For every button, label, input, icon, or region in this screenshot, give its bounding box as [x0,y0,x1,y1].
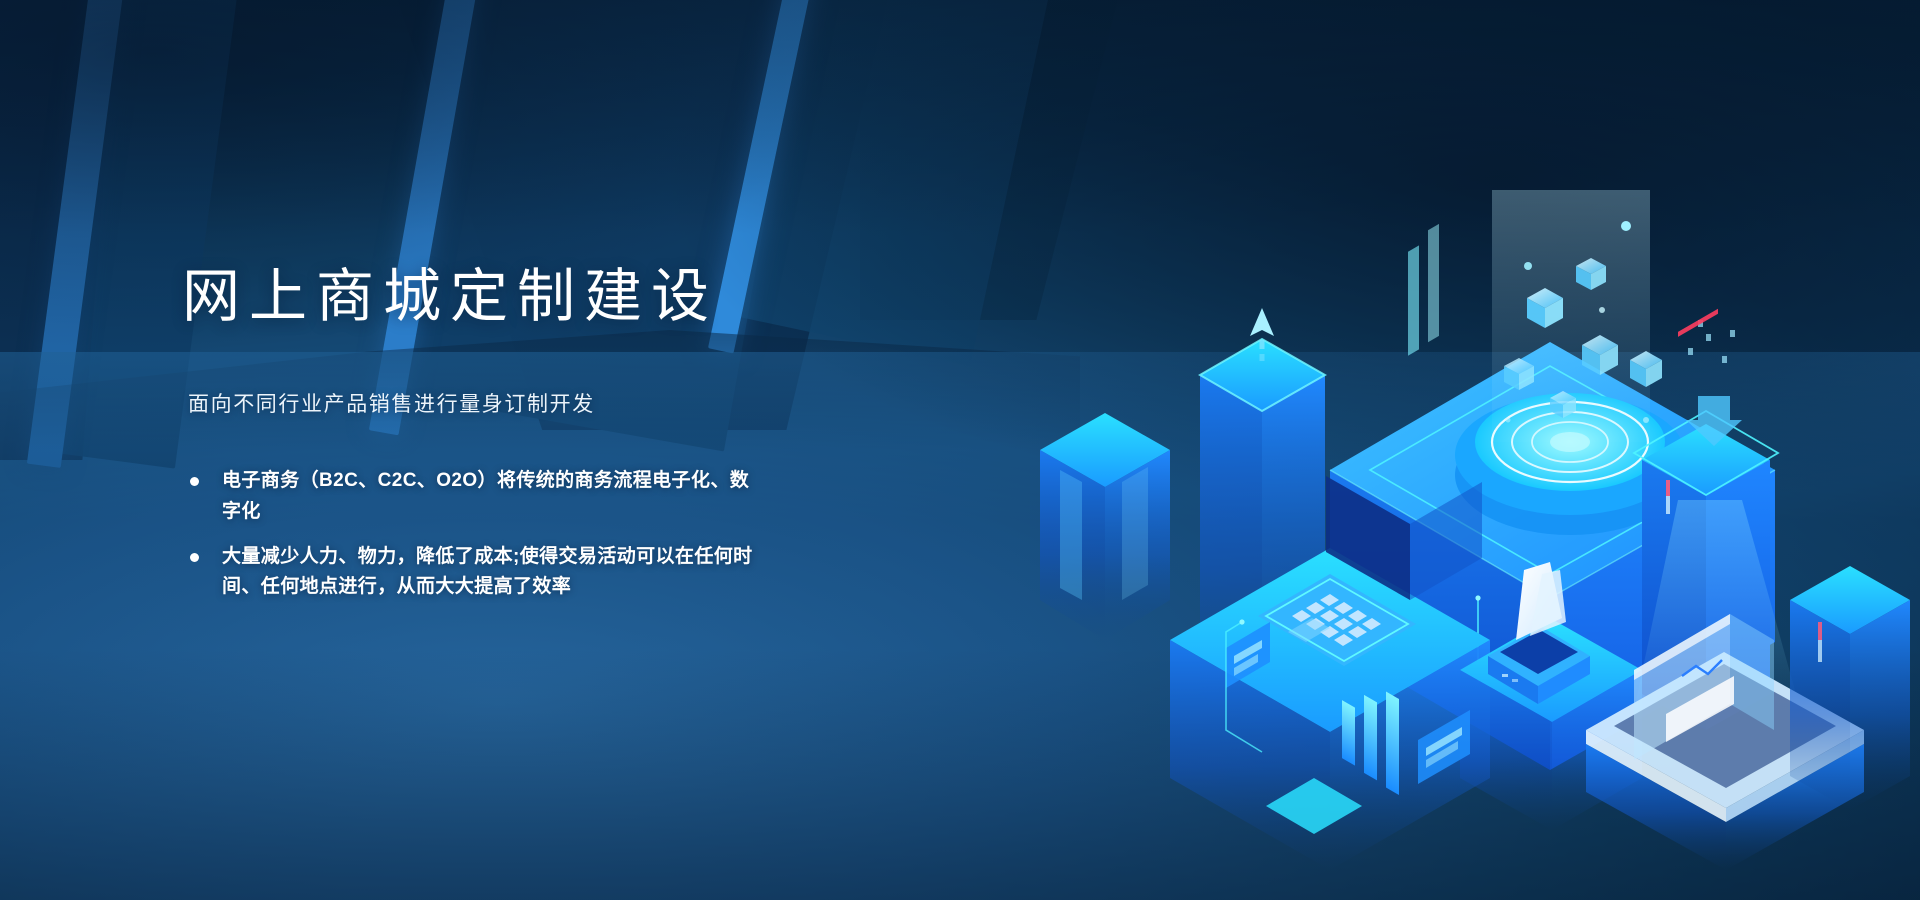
tower-far-left [1040,413,1170,640]
bullet-text: 电子商务（B2C、C2C、O2O）将传统的商务流程电子化、数字化 [222,470,749,522]
bullet-dot-icon [190,553,199,562]
text-column: 网上商城定制建设 面向不同行业产品销售进行量身订制开发 电子商务（B2C、C2C… [182,268,802,619]
page-title: 网上商城定制建设 [182,268,802,326]
banner-stage: 网上商城定制建设 面向不同行业产品销售进行量身订制开发 电子商务（B2C、C2C… [0,0,1920,900]
neon-wire-node [1239,619,1244,624]
tower-far-right [1790,566,1910,810]
isometric-illustration [1030,170,1920,870]
bullet-text: 大量减少人力、物力，降低了成本;使得交易活动可以在任何时间、任何地点进行，从而大… [222,546,753,598]
bullet-dot-icon [190,477,199,486]
feature-bullet-list: 电子商务（B2C、C2C、O2O）将传统的商务流程电子化、数字化 大量减少人力、… [190,466,802,603]
list-item: 电子商务（B2C、C2C、O2O）将传统的商务流程电子化、数字化 [190,466,762,528]
page-subtitle: 面向不同行业产品销售进行量身订制开发 [188,388,802,418]
list-item: 大量减少人力、物力，降低了成本;使得交易活动可以在任何时间、任何地点进行，从而大… [190,542,762,604]
